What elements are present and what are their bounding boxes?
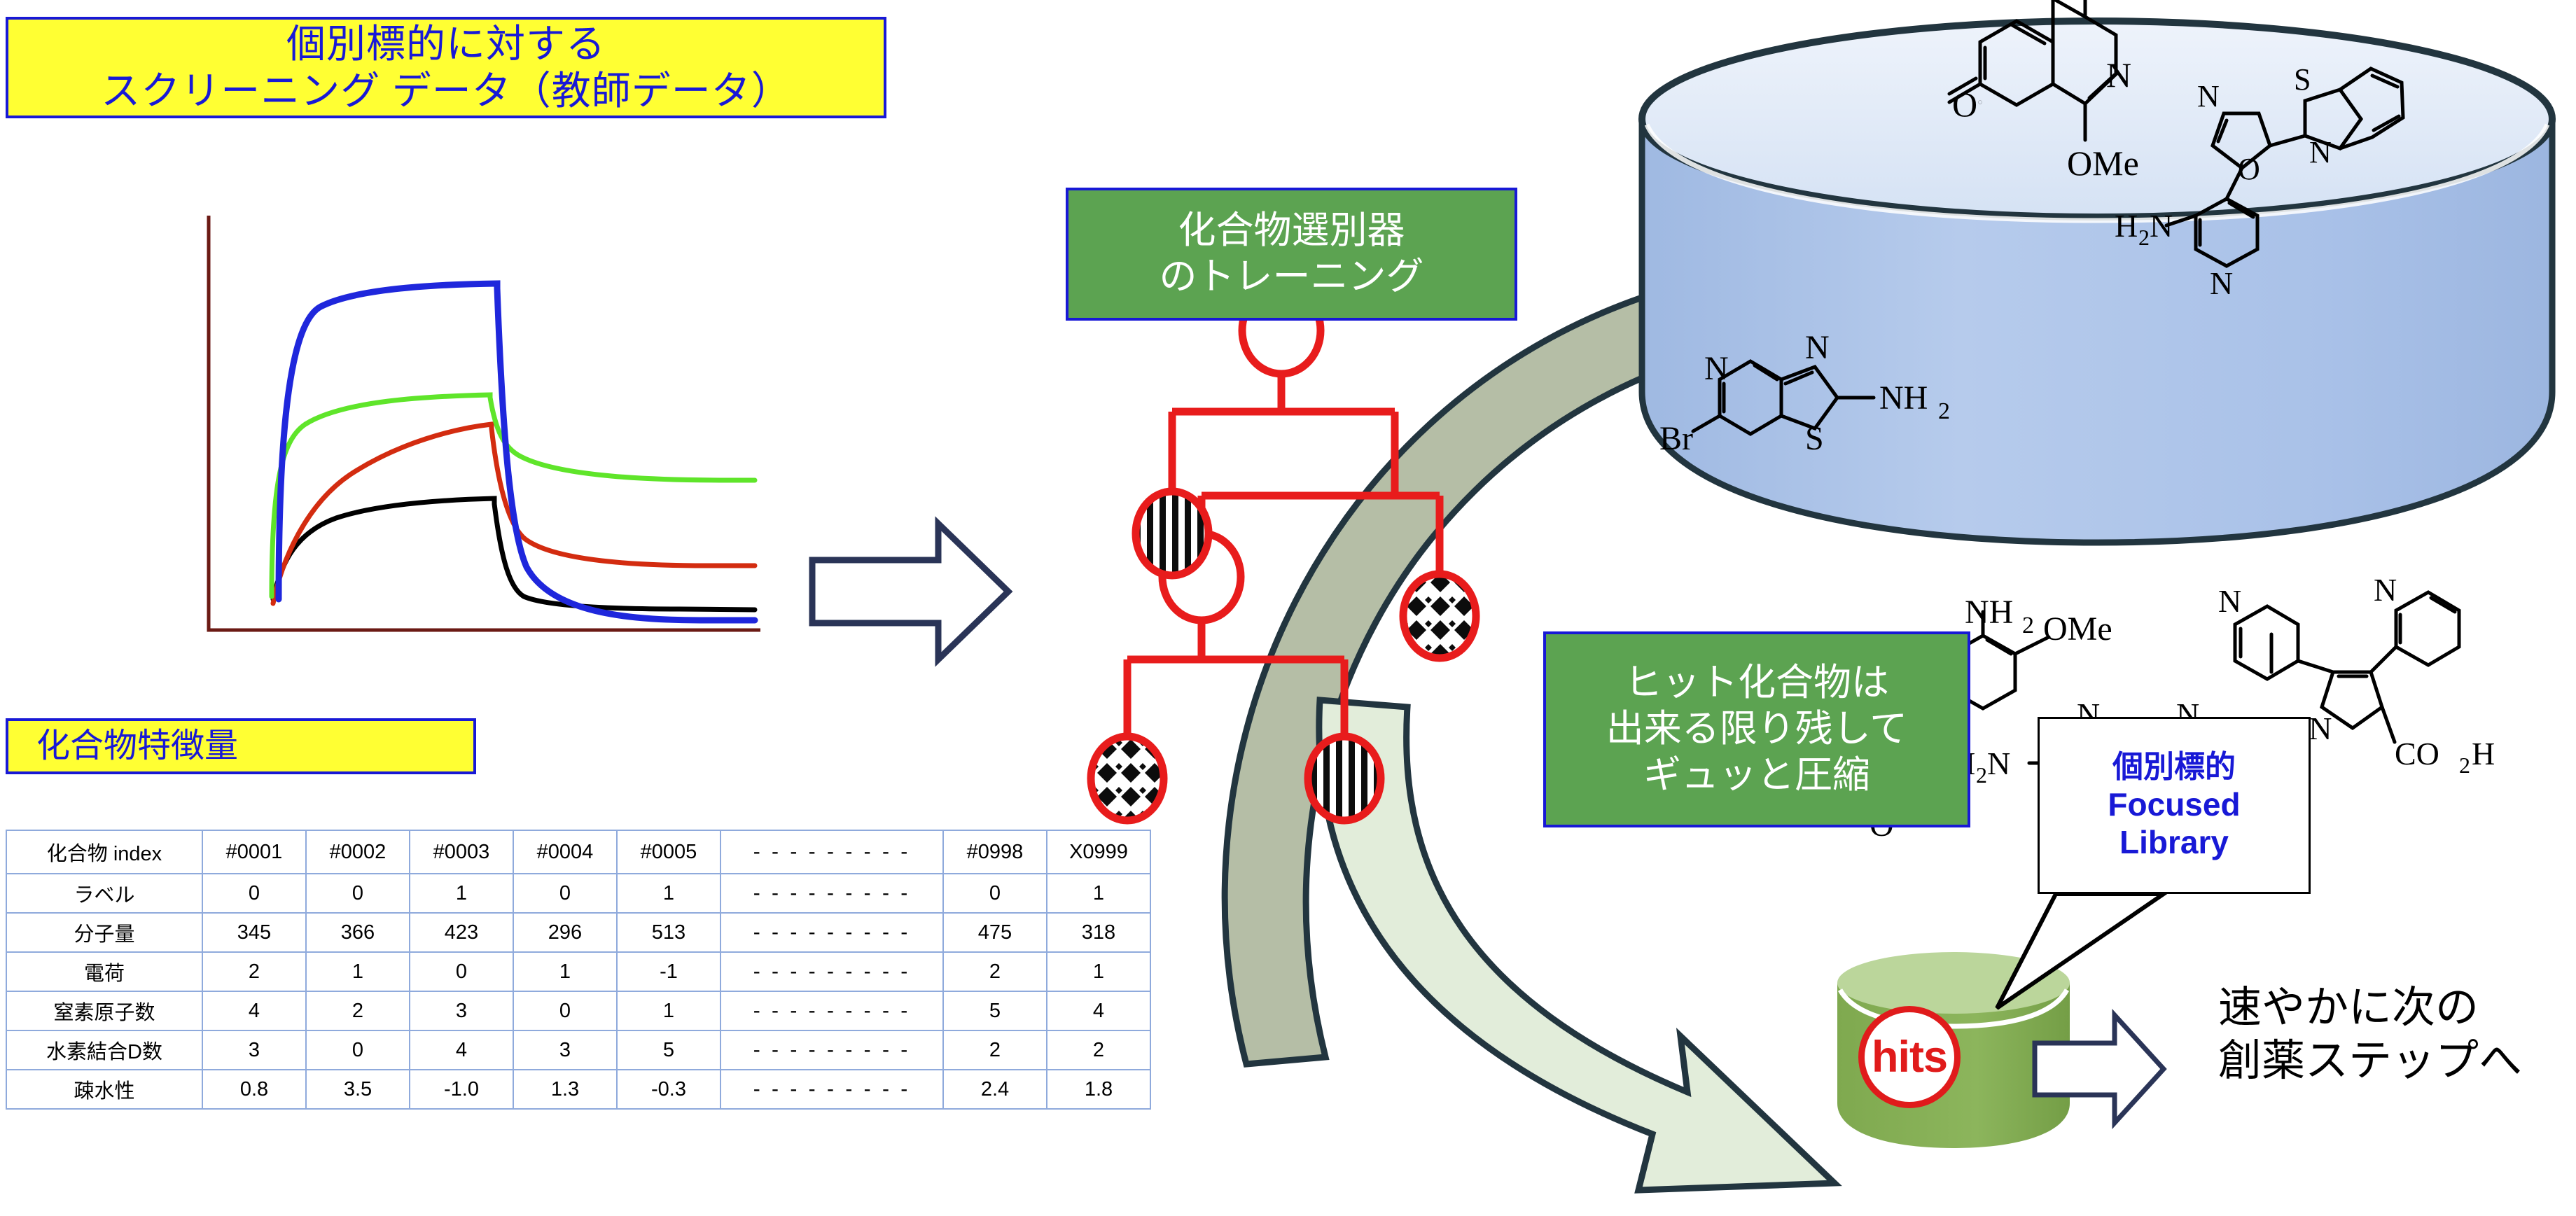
training-label-box: 化合物選別器 のトレーニング — [1066, 188, 1517, 321]
table-cell: -0.3 — [617, 1070, 720, 1109]
table-cell-ellipsis: - - - - - - - - - — [720, 913, 943, 952]
sensorgram-plot — [175, 210, 763, 658]
table-row: 疎水性0.83.5-1.01.3-0.3- - - - - - - - -2.4… — [6, 1070, 1150, 1109]
table-cell: 345 — [202, 913, 306, 952]
svg-text:N: N — [2197, 79, 2220, 113]
table-cell-ellipsis: - - - - - - - - - — [720, 1070, 943, 1109]
decision-tree — [1091, 287, 1476, 820]
svg-text:2: 2 — [1976, 762, 1987, 788]
svg-text:OMe: OMe — [2067, 144, 2139, 183]
svg-text:CO: CO — [2395, 736, 2439, 771]
compress-line-1: ヒット化合物は — [1624, 660, 1889, 706]
table-cell: 296 — [513, 913, 617, 952]
table-cell: 0 — [513, 874, 617, 913]
table-cell: 0 — [306, 874, 410, 913]
table-cell: -1 — [617, 952, 720, 991]
table-cell: 1 — [513, 952, 617, 991]
table-cell: 0 — [306, 1030, 410, 1070]
table-cell: 0 — [513, 991, 617, 1030]
compress-line-2: 出来る限り残して — [1606, 706, 1907, 753]
table-header-cell: #0003 — [410, 830, 513, 874]
svg-text:S: S — [1805, 420, 1824, 457]
table-cell-ellipsis: - - - - - - - - - — [720, 1030, 943, 1070]
callout-line-2: Focused — [2108, 785, 2240, 823]
table-row-label: 疎水性 — [6, 1070, 202, 1109]
table-row-label: 窒素原子数 — [6, 991, 202, 1030]
table-cell: -1.0 — [410, 1070, 513, 1109]
tree-leaf-checkered-2 — [1091, 736, 1164, 820]
compression-label-box: ヒット化合物は 出来る限り残して ギュッと圧縮 — [1543, 631, 1970, 827]
table-cell: 3.5 — [306, 1070, 410, 1109]
table-cell: 2.4 — [943, 1070, 1047, 1109]
svg-text:N: N — [1805, 329, 1830, 366]
table-cell: 1 — [306, 952, 410, 991]
title-line-1: 個別標的に対する — [286, 21, 606, 67]
table-header-index: 化合物 index — [6, 830, 202, 874]
table-header-row: 化合物 index#0001#0002#0003#0004#0005- - - … — [6, 830, 1150, 874]
screening-data-title-box: 個別標的に対する スクリーニング データ（教師データ） — [6, 17, 886, 118]
table-cell: 0 — [202, 874, 306, 913]
training-line-2: のトレーニング — [1160, 254, 1424, 300]
table-cell: 3 — [513, 1030, 617, 1070]
table-cell: 0 — [943, 874, 1047, 913]
svg-text:N: N — [2150, 208, 2173, 244]
tree-node-internal — [1162, 533, 1241, 620]
title-line-2: スクリーニング データ（教師データ） — [101, 68, 791, 114]
table-header-cell: - - - - - - - - - — [720, 830, 943, 874]
table-cell: 0.8 — [202, 1070, 306, 1109]
table-cell-ellipsis: - - - - - - - - - — [720, 952, 943, 991]
table-cell: 5 — [617, 1030, 720, 1070]
features-label: 化合物特徴量 — [36, 727, 238, 767]
table-cell: 318 — [1047, 913, 1150, 952]
svg-text:NH: NH — [1965, 594, 2013, 631]
table-cell: 2 — [306, 991, 410, 1030]
compress-line-3: ギュッと圧縮 — [1643, 753, 1870, 799]
next-step-text: 速やかに次の 創薬ステップへ — [2218, 981, 2575, 1087]
table-cell: 1 — [410, 874, 513, 913]
callout-tail — [1997, 894, 2164, 1008]
svg-text:NH: NH — [1879, 379, 1928, 417]
svg-text:N: N — [2106, 55, 2131, 95]
svg-text:OMe: OMe — [2043, 610, 2112, 648]
svg-text:O: O — [1952, 85, 1977, 124]
table-header-cell: #0004 — [513, 830, 617, 874]
svg-text:N: N — [2309, 135, 2332, 169]
feature-table-body: 化合物 index#0001#0002#0003#0004#0005- - - … — [6, 830, 1150, 1109]
svg-text:N: N — [1987, 746, 2010, 781]
svg-text:S: S — [2294, 62, 2311, 97]
table-header-cell: #0001 — [202, 830, 306, 874]
table-cell: 1 — [1047, 874, 1150, 913]
tree-leaf-checkered-1 — [1403, 574, 1476, 658]
table-cell: 2 — [943, 952, 1047, 991]
table-cell-ellipsis: - - - - - - - - - — [720, 874, 943, 913]
arrow-hits-to-next-step — [2035, 1015, 2164, 1123]
table-cell: 2 — [943, 1030, 1047, 1070]
table-header-cell: #0005 — [617, 830, 720, 874]
hits-badge: hits — [1858, 1006, 1961, 1108]
next-step-line-2: 創薬ステップへ — [2218, 1035, 2575, 1088]
table-cell: 1 — [617, 874, 720, 913]
svg-text:H: H — [2472, 736, 2495, 771]
svg-text:H: H — [2115, 208, 2138, 244]
tree-edges — [1127, 368, 1440, 736]
table-cell: 1 — [1047, 952, 1150, 991]
table-cell: 1.3 — [513, 1070, 617, 1109]
table-row: ラベル00101- - - - - - - - -01 — [6, 874, 1150, 913]
callout-line-1: 個別標的 — [2112, 749, 2236, 785]
table-row-label: 水素結合D数 — [6, 1030, 202, 1070]
table-cell: 4 — [1047, 991, 1150, 1030]
compound-features-label-box: 化合物特徴量 — [6, 718, 476, 774]
tree-leaf-striped-2 — [1308, 736, 1381, 820]
callout-line-3: Library — [2119, 823, 2229, 861]
svg-text:O: O — [2238, 152, 2260, 186]
table-cell: 2 — [1047, 1030, 1150, 1070]
table-cell: 4 — [202, 991, 306, 1030]
table-cell: 366 — [306, 913, 410, 952]
table-cell: 0 — [410, 952, 513, 991]
arrow-plot-to-tree — [812, 524, 1008, 659]
svg-text:N: N — [1704, 350, 1729, 387]
table-cell: 1.8 — [1047, 1070, 1150, 1109]
training-line-1: 化合物選別器 — [1178, 208, 1405, 254]
table-header-cell: #0998 — [943, 830, 1047, 874]
table-row-label: ラベル — [6, 874, 202, 913]
table-row-label: 電荷 — [6, 952, 202, 991]
table-header-cell: X0999 — [1047, 830, 1150, 874]
library-cylinder-body — [1642, 119, 2552, 543]
library-cylinder-rim-highlight — [1647, 125, 2547, 221]
compound-feature-table: 化合物 index#0001#0002#0003#0004#0005- - - … — [6, 830, 1151, 1110]
hits-label: hits — [1872, 1032, 1947, 1082]
table-row-label: 分子量 — [6, 913, 202, 952]
table-cell: 3 — [202, 1030, 306, 1070]
table-row: 窒素原子数42301- - - - - - - - -54 — [6, 991, 1150, 1030]
svg-text:2: 2 — [2022, 613, 2034, 638]
table-row: 電荷2101-1- - - - - - - - -21 — [6, 952, 1150, 991]
svg-text:N: N — [2218, 583, 2241, 619]
table-cell: 5 — [943, 991, 1047, 1030]
svg-text:N: N — [2210, 265, 2233, 301]
table-cell: 475 — [943, 913, 1047, 952]
table-cell-ellipsis: - - - - - - - - - — [720, 991, 943, 1030]
table-cell: 423 — [410, 913, 513, 952]
svg-text:Br: Br — [1659, 420, 1693, 457]
table-cell: 513 — [617, 913, 720, 952]
tree-leaf-striped-1 — [1136, 491, 1209, 575]
svg-text:N: N — [2374, 572, 2397, 608]
table-row: 水素結合D数30435- - - - - - - - -22 — [6, 1030, 1150, 1070]
table-cell: 1 — [617, 991, 720, 1030]
focused-library-callout: 個別標的 Focused Library — [2038, 717, 2311, 894]
table-cell: 3 — [410, 991, 513, 1030]
hits-cylinder-top — [1837, 952, 2070, 1014]
svg-text:2: 2 — [2138, 225, 2150, 250]
library-cylinder-top — [1642, 21, 2552, 217]
svg-text:2: 2 — [1938, 398, 1950, 424]
svg-text:2: 2 — [2459, 753, 2470, 778]
next-step-line-1: 速やかに次の — [2218, 981, 2575, 1035]
table-cell: 4 — [410, 1030, 513, 1070]
table-header-cell: #0002 — [306, 830, 410, 874]
table-cell: 2 — [202, 952, 306, 991]
table-row: 分子量345366423296513- - - - - - - - -47531… — [6, 913, 1150, 952]
